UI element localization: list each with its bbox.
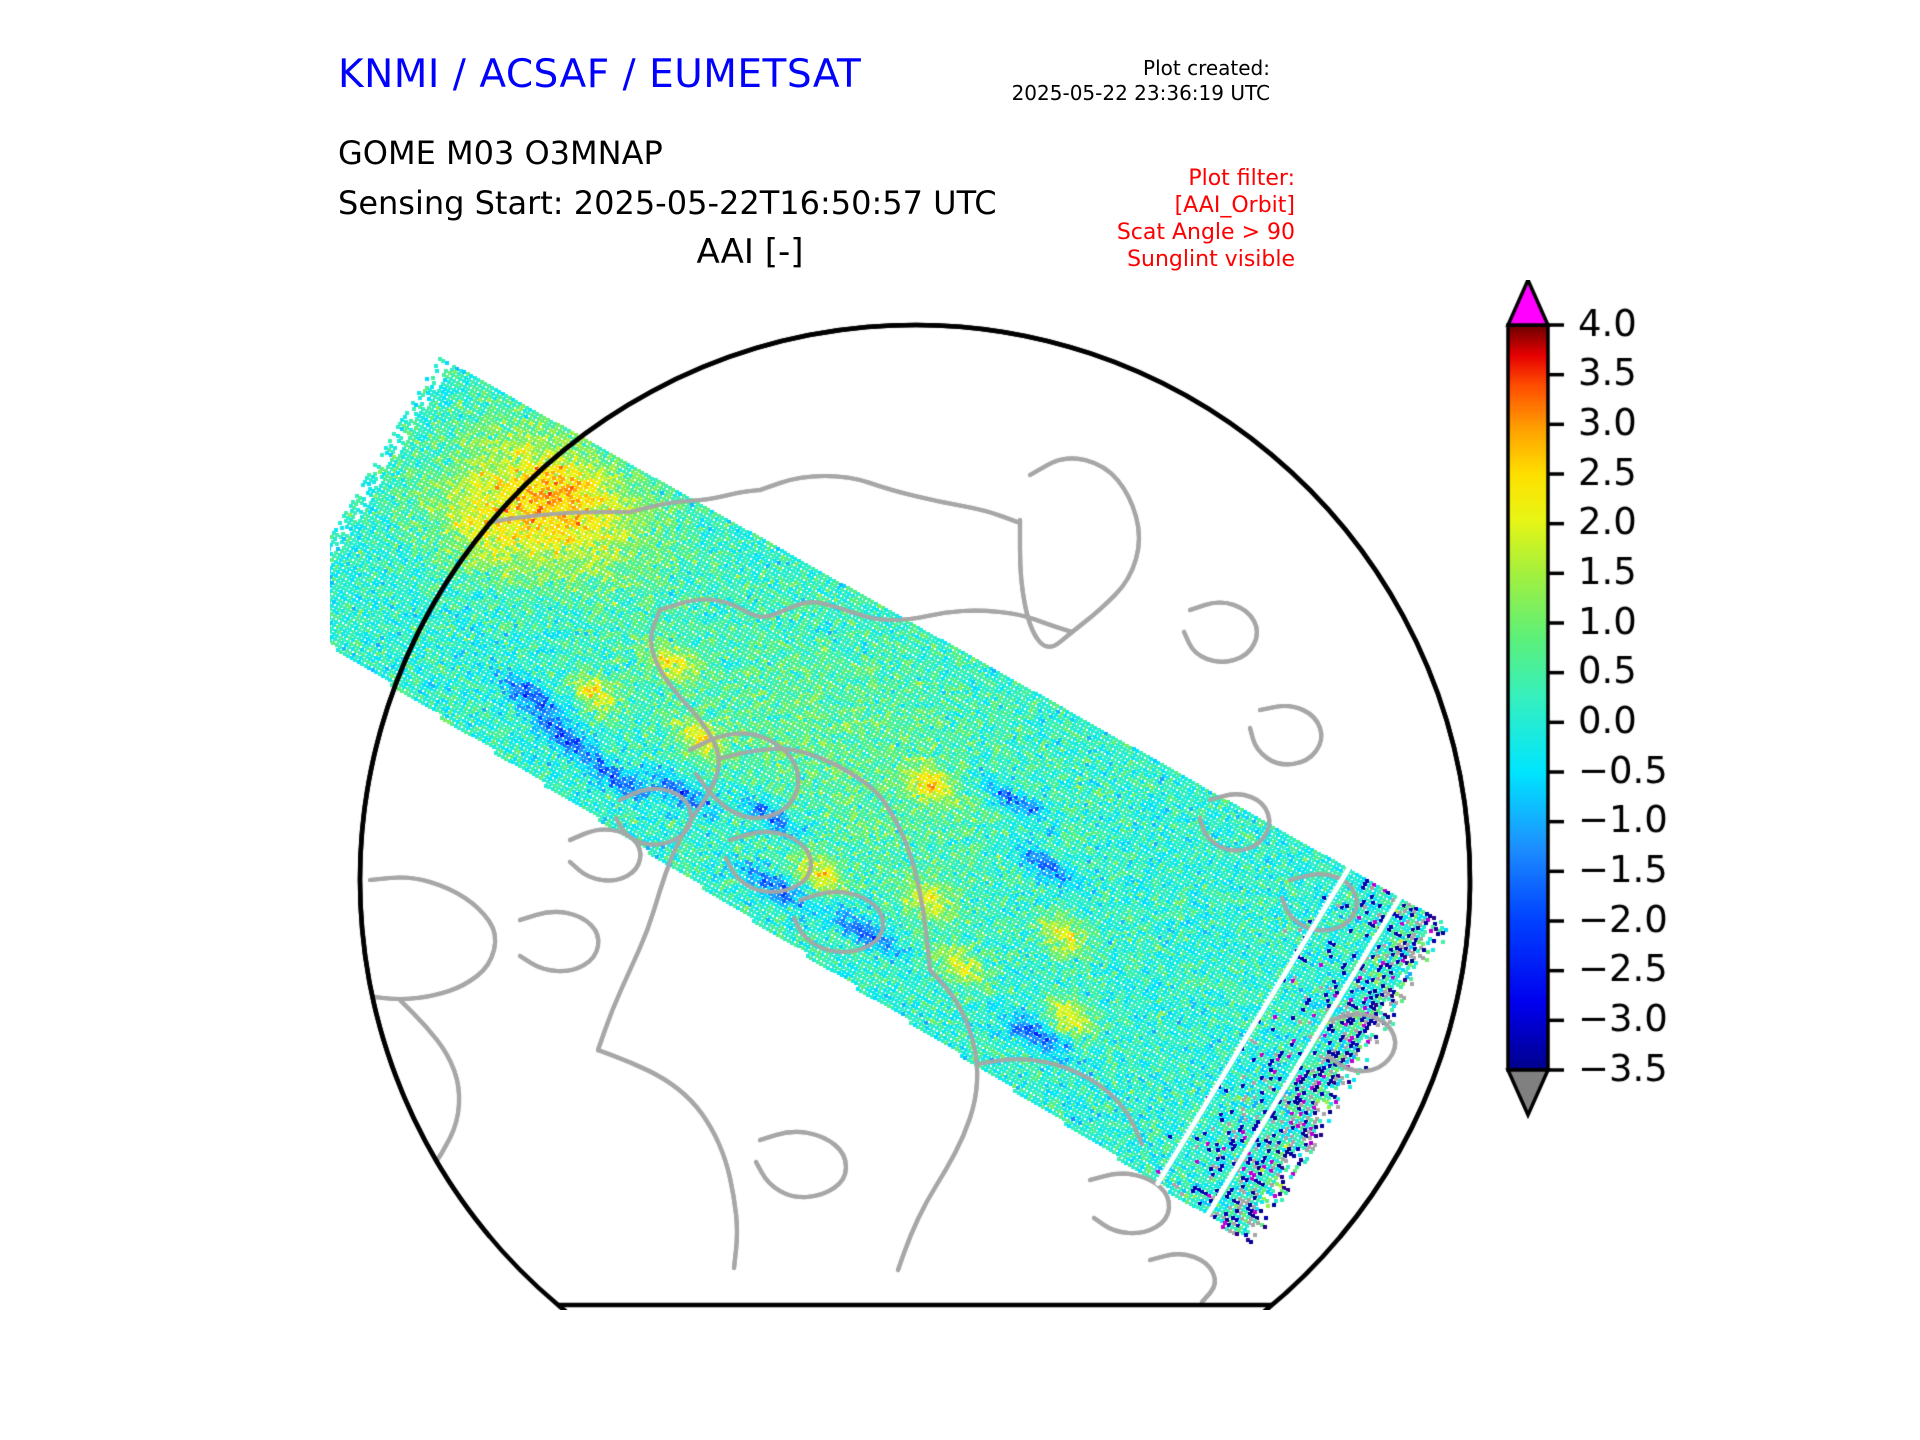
plot-filter-orbit: [AAI_Orbit] — [1117, 192, 1295, 219]
plot-created-label: Plot created: — [1012, 56, 1270, 81]
organisation-title: KNMI / ACSAF / EUMETSAT — [338, 52, 861, 97]
plot-filter-label: Plot filter: — [1117, 165, 1295, 192]
product-name: GOME M03 O3MNAP — [338, 134, 663, 172]
plot-created-value: 2025-05-22 23:36:19 UTC — [1012, 81, 1270, 106]
satellite-swath-map — [330, 280, 1510, 1310]
plot-filter-scat-angle: Scat Angle > 90 — [1117, 219, 1295, 246]
map-panel — [330, 280, 1510, 1310]
plot-filter-block: Plot filter: [AAI_Orbit] Scat Angle > 90… — [1117, 165, 1295, 273]
plot-filter-sunglint: Sunglint visible — [1117, 246, 1295, 273]
sensing-start-label: Sensing Start: 2025-05-22T16:50:57 UTC — [338, 184, 997, 222]
colorbar — [1498, 280, 1898, 1320]
colorbar-panel — [1498, 280, 1898, 1320]
plot-created-block: Plot created: 2025-05-22 23:36:19 UTC — [1012, 56, 1270, 106]
